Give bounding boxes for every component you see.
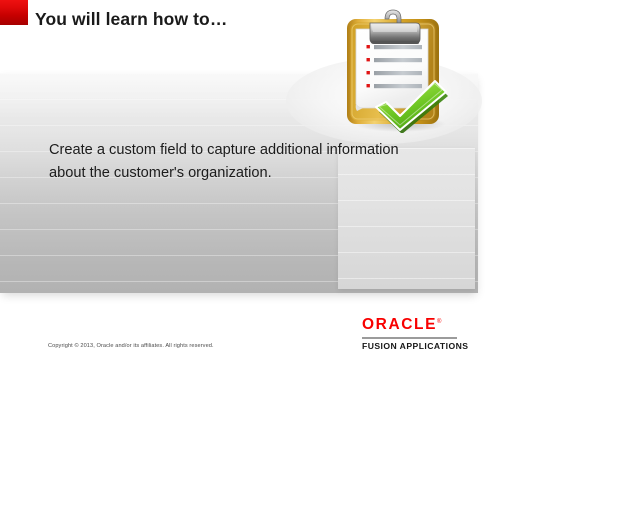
clipboard-checkmark-icon [330, 8, 470, 133]
checklist-row [367, 71, 423, 75]
oracle-fusion-applications-logo: ORACLE® FUSION APPLICATIONS [362, 314, 462, 351]
checklist-row [367, 45, 423, 49]
oracle-wordmark-text: ORACLE [362, 317, 437, 333]
body-copy: Create a custom field to capture additio… [49, 139, 449, 185]
logo-subtitle: FUSION APPLICATIONS [362, 341, 462, 351]
oracle-wordmark: ORACLE® [362, 314, 462, 334]
body-copy-line-2: about the customer's organization. [49, 162, 449, 185]
slide-root: You will learn how to… Create a custom f… [0, 0, 640, 512]
logo-divider [362, 337, 457, 339]
checklist-row [367, 58, 423, 62]
clipboard-clip-icon [370, 10, 420, 44]
copyright-text: Copyright © 2013, Oracle and/or its affi… [48, 343, 214, 349]
body-copy-line-1: Create a custom field to capture additio… [49, 139, 449, 162]
title-accent-marker [0, 0, 28, 25]
registered-trademark-icon: ® [437, 314, 441, 330]
checklist-row [367, 84, 423, 88]
page-title: You will learn how to… [35, 9, 227, 30]
